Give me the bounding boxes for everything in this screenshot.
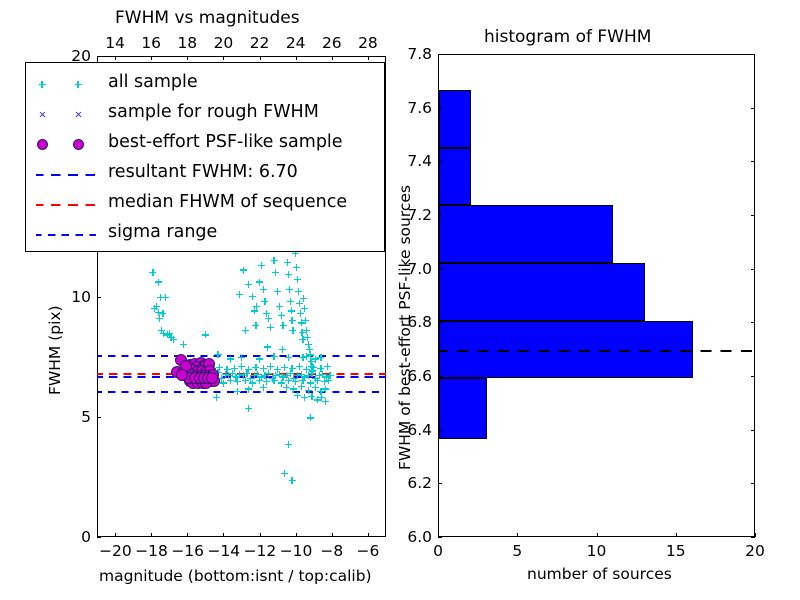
dashdot-line-icon <box>36 234 96 236</box>
scatter-plot-title: FWHM vs magnitudes <box>115 8 300 28</box>
scatter-yticklabel: 5 <box>59 408 91 426</box>
histogram-bar <box>439 205 613 263</box>
scatter-ytick <box>97 417 101 418</box>
histogram-bar <box>439 263 645 321</box>
scatter-top-xtick <box>260 56 261 60</box>
histogram-ytick-right <box>751 269 755 270</box>
scatter-xtick <box>332 533 333 537</box>
legend-entry-0: all sample <box>26 69 384 100</box>
legend-label: all sample <box>108 72 198 92</box>
scatter-top-xtick <box>187 56 188 60</box>
histogram-yticklabel: 6.0 <box>392 528 432 546</box>
scatter-point-psf-sample <box>206 372 218 384</box>
histogram-ytick-right <box>751 537 755 538</box>
histogram-xtick <box>755 533 756 537</box>
legend-entry-3: resultant FWHM: 6.70 <box>26 159 384 190</box>
histogram-bar <box>439 378 487 438</box>
scatter-top-xticklabel: 26 <box>316 34 348 52</box>
scatter-xtick <box>187 533 188 537</box>
legend-label: resultant FWHM: 6.70 <box>108 162 298 182</box>
histogram-yticklabel: 7.8 <box>392 45 432 63</box>
legend-entry-2: best-effort PSF-like sample <box>26 129 384 160</box>
legend-handle <box>32 159 100 190</box>
scatter-top-xtick <box>223 56 224 60</box>
scatter-top-xticklabel: 16 <box>135 34 167 52</box>
histogram-ytick-right <box>751 54 755 55</box>
scatter-yaxis-label: FWHM (pix) <box>46 305 64 395</box>
legend-entry-5: sigma range <box>26 219 384 250</box>
scatter-xticklabel: −16 <box>171 542 203 560</box>
legend-handle <box>32 69 100 100</box>
scatter-xtick <box>151 533 152 537</box>
histogram-xtick <box>597 533 598 537</box>
legend-handle <box>32 99 100 130</box>
histogram-ytick <box>438 376 442 377</box>
histogram-yaxis-label: FWHM of best-effort PSF-like sources <box>396 185 414 470</box>
scatter-top-xticklabel: 18 <box>171 34 203 52</box>
scatter-top-xtick <box>151 56 152 60</box>
legend-entry-1: sample for rough FWHM <box>26 99 384 130</box>
dashed-line-icon <box>36 174 96 176</box>
scatter-xticklabel: −20 <box>99 542 131 560</box>
legend: all samplesample for rough FWHMbest-effo… <box>25 62 385 252</box>
scatter-xaxis-label: magnitude (bottom:isnt / top:calib) <box>99 567 372 585</box>
circle-icon <box>37 139 48 150</box>
scatter-xtick <box>260 533 261 537</box>
histogram-ytick-right <box>751 215 755 216</box>
scatter-yticklabel: 0 <box>59 528 91 546</box>
scatter-ytick <box>97 297 101 298</box>
histogram-ytick <box>438 108 442 109</box>
scatter-refline-sigma-range-lower <box>97 391 386 393</box>
histogram-ytick-right <box>751 322 755 323</box>
histogram-title: histogram of FWHM <box>484 27 651 47</box>
scatter-top-xticklabel: 14 <box>99 34 131 52</box>
histogram-xticklabel: 15 <box>660 542 692 560</box>
histogram-plot-area <box>438 54 755 537</box>
scatter-yticklabel: 10 <box>59 288 91 306</box>
histogram-yticklabel: 7.6 <box>392 99 432 117</box>
dashed-line-icon <box>36 204 96 206</box>
histogram-ytick-right <box>751 430 755 431</box>
scatter-top-xticklabel: 24 <box>280 34 312 52</box>
histogram-xticklabel: 20 <box>739 542 771 560</box>
scatter-xtick <box>368 533 369 537</box>
legend-label: sample for rough FWHM <box>108 102 319 122</box>
scatter-top-xtick <box>296 56 297 60</box>
histogram-bar <box>439 90 471 148</box>
circle-icon <box>73 139 84 150</box>
scatter-point-psf-sample <box>176 369 188 381</box>
histogram-xtick <box>676 533 677 537</box>
legend-handle <box>32 129 100 160</box>
scatter-xtick <box>115 533 116 537</box>
histogram-ytick <box>438 537 442 538</box>
scatter-xticklabel: −6 <box>352 542 384 560</box>
histogram-ytick <box>438 269 442 270</box>
histogram-xticklabel: 10 <box>581 542 613 560</box>
scatter-ytick <box>97 56 101 57</box>
histogram-xticklabel: 5 <box>501 542 533 560</box>
legend-handle <box>32 189 100 220</box>
histogram-ytick <box>438 215 442 216</box>
scatter-top-xticklabel: 20 <box>207 34 239 52</box>
figure-canvas: FWHM vs magnitudes −20−18−16−14−12−10−8−… <box>0 0 800 600</box>
histogram-ytick-right <box>751 376 755 377</box>
legend-handle <box>32 219 100 250</box>
scatter-top-xticklabel: 22 <box>244 34 276 52</box>
histogram-ytick <box>438 430 442 431</box>
histogram-yticklabel: 7.4 <box>392 152 432 170</box>
histogram-ytick-right <box>751 483 755 484</box>
histogram-ytick <box>438 483 442 484</box>
legend-label: best-effort PSF-like sample <box>108 132 343 152</box>
scatter-top-xtick <box>115 56 116 60</box>
histogram-yticklabel: 6.2 <box>392 474 432 492</box>
scatter-top-xtick <box>368 56 369 60</box>
legend-entry-4: median FHWM of sequence <box>26 189 384 220</box>
scatter-top-xtick <box>332 56 333 60</box>
scatter-xtick <box>223 533 224 537</box>
histogram-ytick-right <box>751 161 755 162</box>
histogram-xtick <box>517 533 518 537</box>
histogram-xaxis-label: number of sources <box>527 565 672 583</box>
histogram-bar <box>439 148 471 206</box>
scatter-top-xticklabel: 28 <box>352 34 384 52</box>
scatter-ytick <box>97 537 101 538</box>
histogram-ytick <box>438 54 442 55</box>
histogram-ytick-right <box>751 108 755 109</box>
histogram-refline-resultant-fwhm <box>439 350 754 352</box>
scatter-xticklabel: −8 <box>316 542 348 560</box>
scatter-xticklabel: −18 <box>135 542 167 560</box>
scatter-xticklabel: −10 <box>280 542 312 560</box>
scatter-xticklabel: −14 <box>207 542 239 560</box>
histogram-ytick <box>438 322 442 323</box>
legend-label: median FHWM of sequence <box>108 192 347 212</box>
legend-label: sigma range <box>108 222 217 242</box>
scatter-xtick <box>296 533 297 537</box>
histogram-ytick <box>438 161 442 162</box>
scatter-xticklabel: −12 <box>244 542 276 560</box>
